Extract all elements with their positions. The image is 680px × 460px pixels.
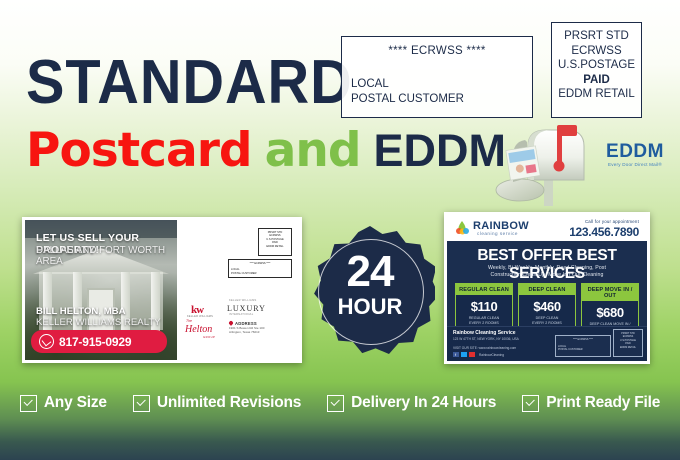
realty-agent-name: BILL HELTON, MBA [36,306,126,317]
address-lines: 1901 S Bowen Rd Ste 100 Arlington, Texas… [229,326,293,335]
rainbow-brand-sub: cleaning service [477,231,518,236]
eddm-logo-word: EDDM [598,142,672,161]
ecrwss-postal-customer: POSTAL CUSTOMER [351,92,464,107]
cleaning-card-header: RAINBOW cleaning service Call for your a… [447,215,647,241]
feature-item-delivery-24-hours: Delivery In 24 Hours [327,394,496,412]
headline-standard: STANDARD [26,52,353,114]
permit-eddm-retail: EDDM RETAIL [552,87,641,102]
cleaning-sub2: Construction Clean-Up, Move In / Out Cle… [447,272,647,278]
cleaning-card-footer: Rainbow Cleaning Service 123 W 47TH ST, … [447,326,647,361]
mailbox-illustration [492,120,598,208]
feature-item-unlimited-revisions: Unlimited Revisions [133,394,301,412]
footer-website: VISIT OUR SITE: www.rainbowcleaning.com [453,346,516,350]
postcard-sample-cleaning: RAINBOW cleaning service Call for your a… [444,212,650,364]
footer-address: 123 W 47TH ST, NEW YORK, NY 10036, USA [453,337,519,342]
location-pin-icon [228,320,234,326]
eddm-logo-tagline: Every Door Direct Mail® [598,161,672,168]
realty-address-block: ADDRESS 1901 S Bowen Rd Ste 100 Arlingto… [229,321,293,335]
feature-label: Delivery In 24 Hours [351,394,496,412]
facebook-icon: f [453,352,459,357]
postcard-sample-realty: LET US SELL YOUR PROPERTY! DALLAS AND FO… [22,217,302,363]
postage-permit-block: PRSRT STD ECRWSS U.S.POSTAGE PAID EDDM R… [551,22,642,118]
headline-eddm: EDDM [374,125,507,176]
cleaning-sub1: Weekly, Bi-Weekly, Monthly, Deed Cleanin… [447,265,647,271]
footer-social-handle: RainbowCleaning [479,353,504,357]
helton-logo-group: GROUP [203,335,215,339]
footer-company-name: Rainbow Cleaning Service [453,330,516,336]
headline-and: and [265,123,361,178]
ecrwss-local-lines: LOCAL POSTAL CUSTOMER [351,77,464,107]
tier-name: REGULAR CLEAN [456,284,512,295]
mini-ecrwss-block: **** ECRWSS **** LOCAL POSTAL CUSTOMER [555,335,611,357]
checkbox-icon [133,395,150,412]
postcard-back-realty: PRSRT STD ECRWSS U.S.POSTAGE PAID EDDM R… [177,220,299,360]
checkbox-icon [20,395,37,412]
24-hour-badge: 24 HOUR [305,226,435,356]
luxury-logo-bottom: INTERNATIONAL [229,313,253,316]
cleaning-call-label: Call for your appointment [585,219,639,224]
realty-subhead: DALLAS AND FORT WORTH AREA [36,245,177,267]
mini-permit-text: PRSRT STD ECRWSS U.S.POSTAGE PAID EDDM R… [266,231,283,248]
permit-paid: PAID [552,73,641,88]
cleaning-phone-number: 123.456.7890 [569,225,639,239]
mini-ecrwss-stars: **** ECRWSS **** [556,338,610,341]
luxury-logo-top: KELLER WILLIAMS [229,299,257,302]
permit-lines: PRSRT STD ECRWSS U.S.POSTAGE PAID EDDM R… [552,23,641,102]
ecrwss-address-block: **** ECRWSS **** LOCAL POSTAL CUSTOMER [341,36,533,118]
mini-permit-block: PRSRT STD ECRWSS U.S.POSTAGE PAID EDDM R… [613,329,643,357]
realty-phone-badge: 817-915-0929 [31,330,167,353]
feature-bar: Any Size Unlimited Revisions Delivery In… [0,388,680,418]
feature-label: Any Size [44,394,107,412]
mini-ecrwss-local: LOCAL POSTAL CUSTOMER [231,268,291,275]
ecrwss-local: LOCAL [351,77,464,92]
mini-permit-text: PRSRT STD ECRWSS U.S.POSTAGE PAID EDDM R… [620,332,636,349]
badge-number: 24 [305,250,435,294]
footer-social-row: f RainbowCleaning [453,352,504,357]
luxury-logo: LUXURY [227,304,266,313]
banner-canvas: STANDARD Postcard and EDDM **** ECRWSS *… [0,0,680,460]
realty-agency: KELLER WILLIAMS REALTY [36,317,161,328]
feature-item-any-size: Any Size [20,394,107,412]
feature-label: Unlimited Revisions [157,394,301,412]
tier-price: $110 [456,295,512,316]
rainbow-droplet-icon [455,220,470,235]
twitter-icon [461,352,467,357]
cleaning-card-body: BEST OFFER BEST SERVICES Weekly, Bi-Week… [447,241,647,361]
tier-name: DEEP MOVE IN / OUT [582,284,638,301]
feature-label: Print Ready File [546,394,660,412]
youtube-icon [469,352,475,357]
checkbox-icon [327,395,344,412]
headline-row-2: Postcard and EDDM [26,126,506,174]
checkbox-icon [522,395,539,412]
tier-price: $460 [519,295,575,316]
mini-ecrwss-stars: **** ECRWSS **** [229,262,291,265]
postcard-front-realty: LET US SELL YOUR PROPERTY! DALLAS AND FO… [25,220,177,360]
kw-logo-sub: KELLER WILLIAMS [187,315,213,318]
realty-phone-number: 817-915-0929 [59,335,131,349]
helton-logo: Helton [185,324,212,335]
headline-postcard: Postcard [26,123,252,178]
helton-logo-the: The [186,319,192,323]
mini-ecrwss-block: **** ECRWSS **** LOCAL POSTAL CUSTOMER [228,259,292,278]
mini-ecrwss-local: LOCAL POSTAL CUSTOMER [558,345,610,351]
feature-item-print-ready-file: Print Ready File [522,394,660,412]
phone-icon [39,334,54,349]
eddm-brand-logo: EDDM Every Door Direct Mail® [598,142,672,172]
mini-permit-block: PRSRT STD ECRWSS U.S.POSTAGE PAID EDDM R… [258,228,292,256]
permit-ecrwss: ECRWSS [552,44,641,59]
ecrwss-stars-line: **** ECRWSS **** [342,45,532,57]
tier-name: DEEP CLEAN [519,284,575,295]
permit-us-postage: U.S.POSTAGE [552,58,641,73]
permit-prsrt-std: PRSRT STD [552,29,641,44]
badge-unit: HOUR [305,296,435,318]
tier-price: $680 [582,301,638,322]
